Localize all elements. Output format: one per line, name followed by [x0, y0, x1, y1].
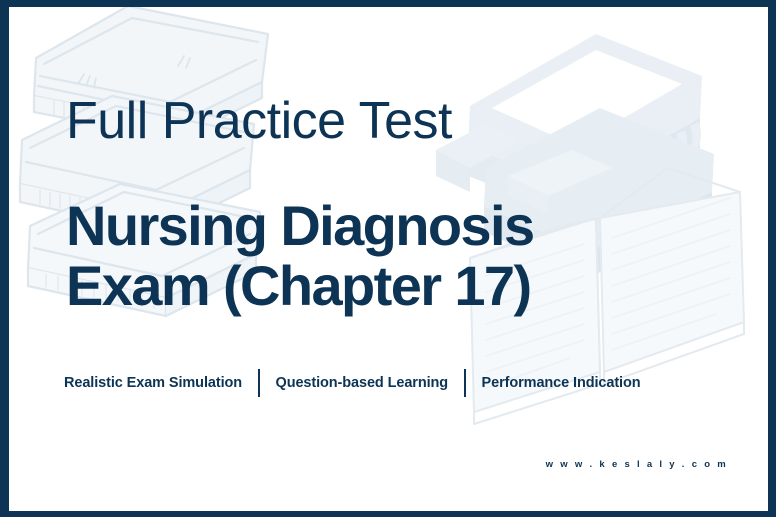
frame-border-left — [0, 0, 9, 517]
promo-banner: Full Practice Test Nursing Diagnosis Exa… — [0, 0, 776, 517]
feature-list: Realistic Exam Simulation Question-based… — [64, 369, 657, 397]
feature-item-performance-indication: Performance Indication — [466, 375, 657, 391]
headline-line-2: Exam (Chapter 17) — [66, 256, 534, 316]
feature-item-question-based-learning: Question-based Learning — [260, 375, 465, 391]
website-url: w w w . k e s l a l y . c o m — [546, 459, 728, 470]
frame-border-right — [768, 0, 776, 517]
frame-border-bottom — [0, 511, 776, 517]
banner-headline: Nursing Diagnosis Exam (Chapter 17) — [66, 196, 534, 316]
frame-border-top — [0, 0, 776, 7]
feature-item-realistic-exam-simulation: Realistic Exam Simulation — [64, 375, 258, 391]
banner-content: Full Practice Test Nursing Diagnosis Exa… — [0, 0, 776, 517]
headline-line-1: Nursing Diagnosis — [66, 196, 534, 256]
banner-eyebrow: Full Practice Test — [66, 94, 452, 149]
